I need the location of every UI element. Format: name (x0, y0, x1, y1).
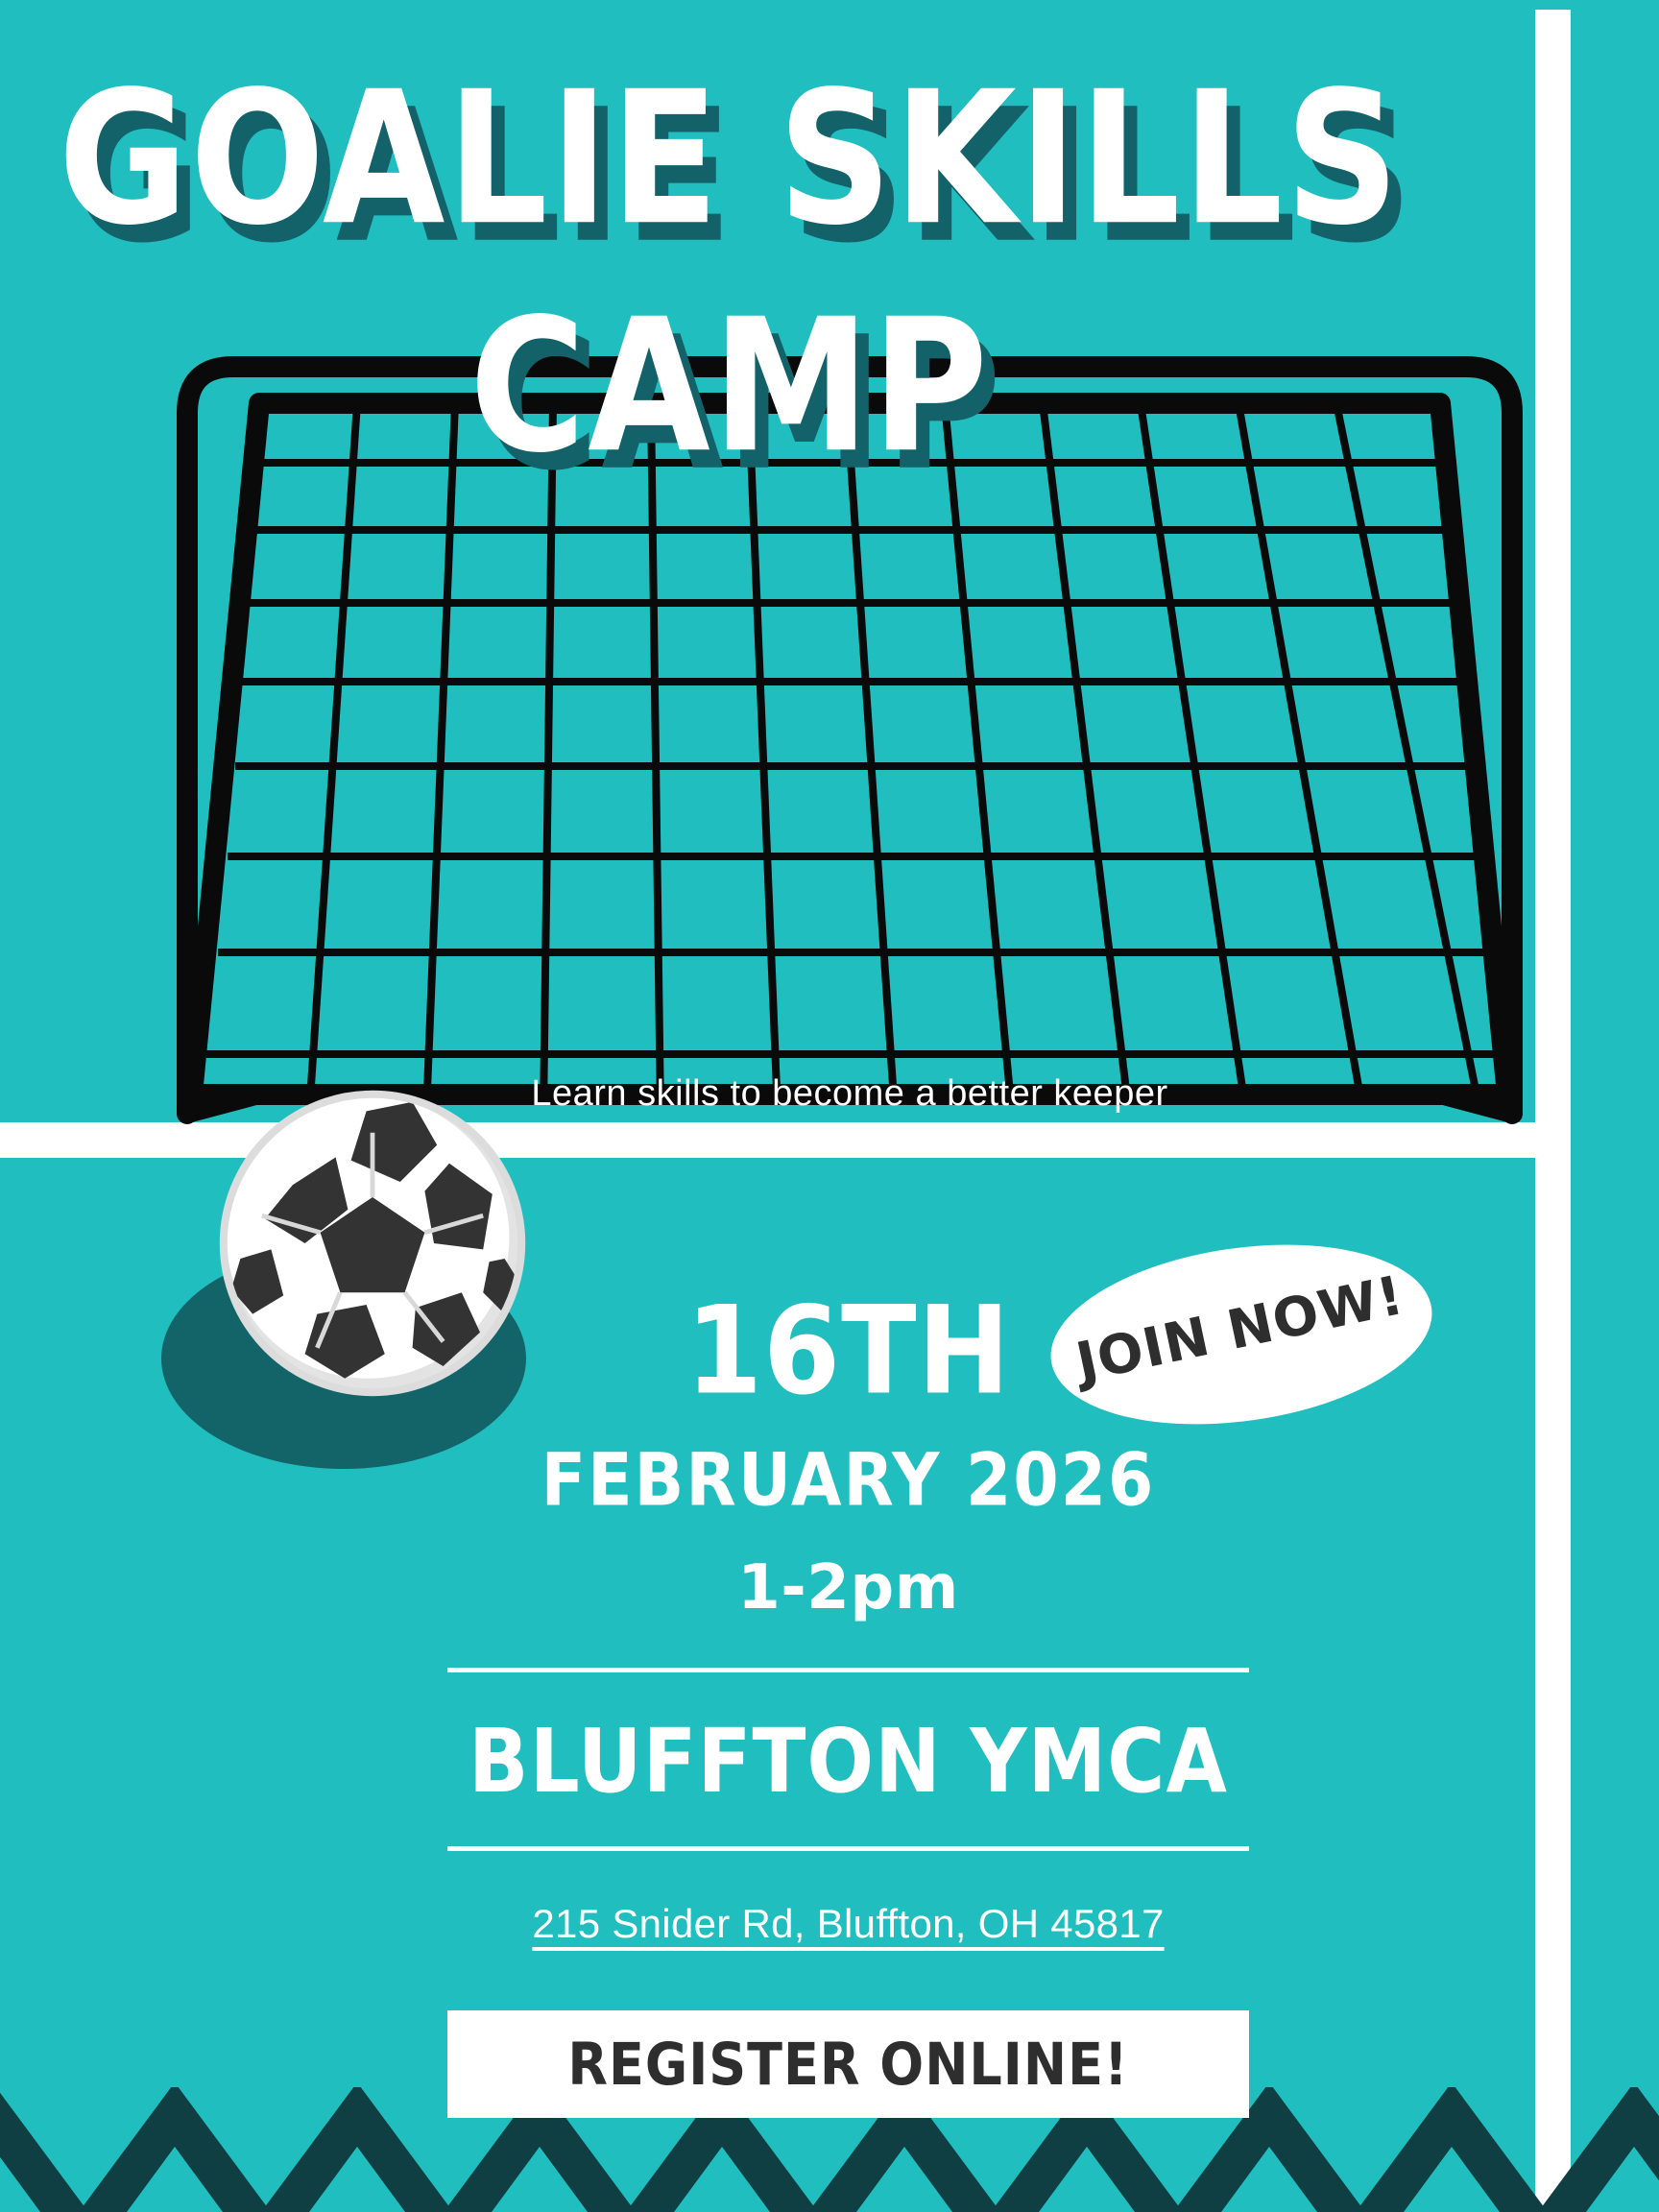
event-address[interactable]: 215 Snider Rd, Bluffton, OH 45817 (447, 1901, 1249, 1947)
divider-top (447, 1668, 1249, 1672)
poster-canvas: GOALIE SKILLS CAMP Learn skills to becom… (0, 0, 1659, 2212)
tagline: Learn skills to become a better keeper (451, 1073, 1248, 1115)
divider-bottom (447, 1846, 1249, 1851)
vertical-white-rule (1535, 10, 1571, 2212)
register-online-button[interactable]: REGISTER ONLINE! (447, 2010, 1249, 2118)
event-venue: BLUFFTON YMCA (447, 1711, 1249, 1813)
join-now-badge[interactable]: JOIN NOW! (1039, 1222, 1443, 1447)
event-time: 1-2pm (447, 1552, 1249, 1623)
badge-label: JOIN NOW! (1034, 1205, 1446, 1454)
title-line-one: GOALIE SKILLS (0, 67, 1459, 251)
register-online-label: REGISTER ONLINE! (567, 2031, 1128, 2099)
soccer-goal-illustration (168, 355, 1531, 1152)
event-month-year: FEBRUARY 2026 (447, 1438, 1249, 1523)
